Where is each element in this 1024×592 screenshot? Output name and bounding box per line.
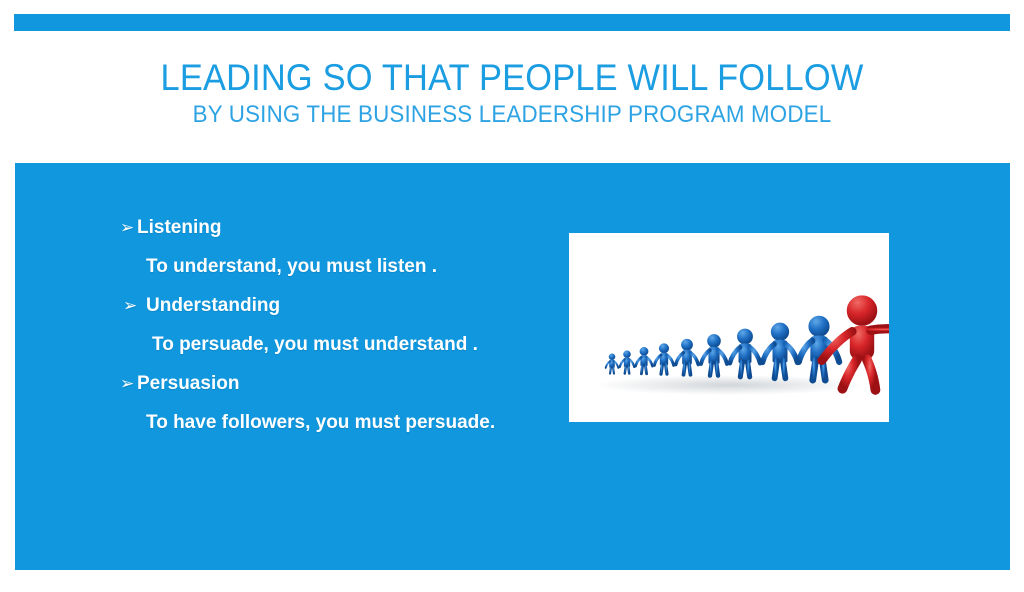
list-item: ➢ Understanding [120, 291, 560, 330]
list-item-detail: To have followers, you must persuade. [120, 408, 560, 447]
list-item: ➢ Listening [120, 213, 560, 252]
bullet-detail-understanding: To persuade, you must understand . [152, 334, 478, 355]
page-subtitle: BY USING THE BUSINESS LEADERSHIP PROGRAM… [49, 100, 975, 130]
bullet-list: ➢ Listening To understand, you must list… [120, 213, 560, 447]
bullet-detail-listening: To understand, you must listen . [146, 256, 437, 277]
list-item-detail: To persuade, you must understand . [120, 330, 560, 369]
bullet-detail-persuasion: To have followers, you must persuade. [146, 412, 495, 433]
page-title: LEADING SO THAT PEOPLE WILL FOLLOW [49, 56, 975, 100]
slide: LEADING SO THAT PEOPLE WILL FOLLOW BY US… [0, 0, 1024, 592]
arrow-bullet-icon: ➢ [120, 369, 137, 399]
list-item-detail: To understand, you must listen . [120, 252, 560, 291]
arrow-bullet-icon: ➢ [120, 213, 137, 243]
arrow-bullet-icon: ➢ [123, 291, 140, 321]
bullet-heading-understanding: Understanding [140, 291, 280, 321]
leadership-followers-illustration [569, 233, 889, 422]
bullet-heading-persuasion: Persuasion [137, 369, 239, 399]
bullet-heading-listening: Listening [137, 213, 221, 243]
list-item: ➢ Persuasion [120, 369, 560, 408]
content-panel: ➢ Listening To understand, you must list… [15, 163, 1010, 570]
top-accent-bar [14, 14, 1010, 31]
title-block: LEADING SO THAT PEOPLE WILL FOLLOW BY US… [14, 56, 1010, 130]
